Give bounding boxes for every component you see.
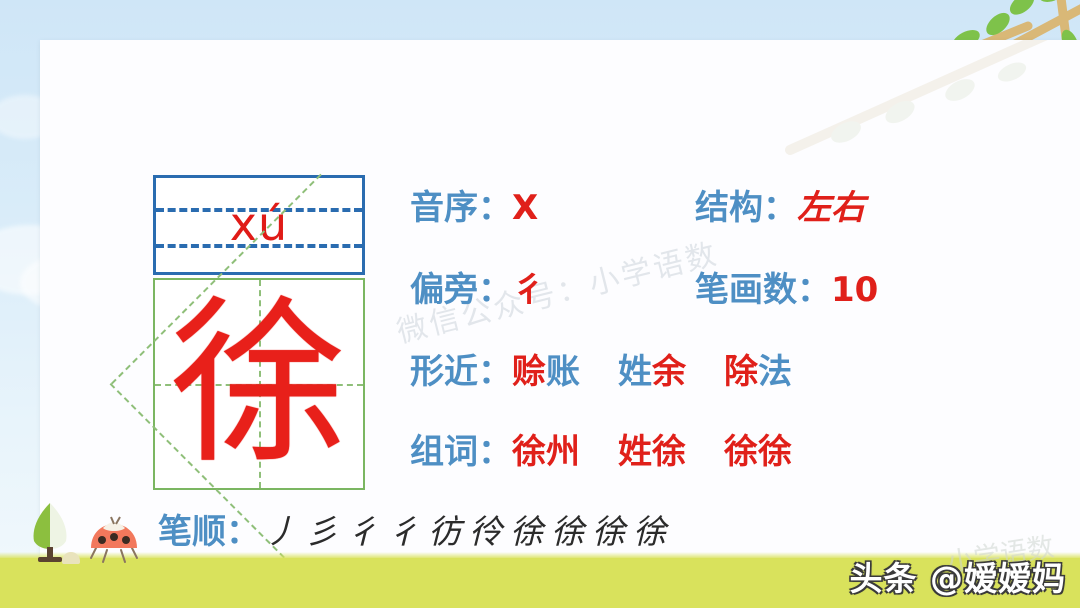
zuci-word-3: 徐徐: [724, 432, 792, 472]
stroke-step-6: 彾: [465, 512, 506, 552]
xingjin-word-1-char-2: 账: [546, 352, 580, 392]
label-yinxu: 音序: [410, 188, 478, 228]
stroke-order-sequence: 丿彡彳彳彷彾徐徐徐徐: [260, 512, 670, 552]
xingjin-word-3-char-1: 除: [724, 352, 758, 392]
label-bihuashu: 笔画数: [695, 270, 797, 310]
label-pianpang: 偏旁: [410, 270, 478, 310]
stroke-step-3: 彳: [342, 512, 383, 552]
xingjin-word-1: 赊账: [512, 352, 580, 392]
pebble-icon: [62, 552, 80, 564]
row-yinxu: 音序 ： X: [410, 188, 538, 228]
stroke-step-2: 彡: [301, 512, 342, 552]
row-xingjin: 形近 ： 赊账 姓余 除法: [410, 352, 792, 392]
slide-canvas: 微信公众号：小学语数 xú 徐 音序 ： X 结构 ： 左右: [0, 0, 1080, 608]
xingjin-word-2-char-1: 姓: [618, 352, 652, 392]
zuci-word-1: 徐州: [512, 432, 580, 472]
row-bihuashu: 笔画数 ： 10: [695, 270, 878, 310]
colon: ：: [478, 352, 512, 392]
ladybug-icon: [85, 516, 143, 564]
label-jiegou: 结构: [695, 188, 763, 228]
xingjin-word-2-char-2: 余: [652, 352, 686, 392]
colon: ：: [763, 188, 797, 228]
stroke-step-8: 徐: [547, 512, 588, 552]
stroke-step-4: 彳: [383, 512, 424, 552]
author-badge: 头条 @嫒嫒妈: [850, 558, 1067, 600]
colon: ：: [478, 270, 512, 310]
content-card: 微信公众号：小学语数 xú 徐 音序 ： X 结构 ： 左右: [40, 40, 1080, 560]
xingjin-word-3-char-2: 法: [758, 352, 792, 392]
label-bishun: 笔顺：: [158, 512, 260, 552]
row-zuci: 组词 ： 徐州 姓徐 徐徐: [410, 432, 792, 472]
row-stroke-order: 笔顺： 丿彡彳彳彷彾徐徐徐徐: [158, 512, 670, 552]
value-bihuashu: 10: [831, 270, 878, 310]
zuci-word-2: 姓徐: [618, 432, 686, 472]
colon: ：: [478, 188, 512, 228]
label-bishun-text: 笔顺: [158, 512, 226, 552]
value-jiegou: 左右: [797, 188, 865, 228]
row-jiegou: 结构 ： 左右: [695, 188, 865, 228]
character-grid-box: 徐: [153, 278, 365, 490]
main-character: 徐: [155, 280, 363, 488]
pinyin-text: xú: [156, 196, 362, 252]
colon: ：: [226, 512, 260, 552]
value-yinxu: X: [512, 188, 538, 228]
stroke-step-7: 徐: [506, 512, 547, 552]
xingjin-word-2: 姓余: [618, 352, 686, 392]
stroke-step-1: 丿: [260, 512, 301, 552]
pinyin-box: xú: [153, 175, 365, 275]
colon: ：: [478, 432, 512, 472]
row-pianpang: 偏旁 ： 彳: [410, 270, 546, 310]
label-xingjin: 形近: [410, 352, 478, 392]
xingjin-word-1-char-1: 赊: [512, 352, 546, 392]
branch-shadow-icon: [750, 40, 1080, 190]
xingjin-word-3: 除法: [724, 352, 792, 392]
colon: ：: [797, 270, 831, 310]
stroke-step-9: 徐: [588, 512, 629, 552]
value-pianpang: 彳: [512, 270, 546, 310]
stroke-step-5: 彷: [424, 512, 465, 552]
stroke-step-10: 徐: [629, 512, 670, 552]
label-zuci: 组词: [410, 432, 478, 472]
